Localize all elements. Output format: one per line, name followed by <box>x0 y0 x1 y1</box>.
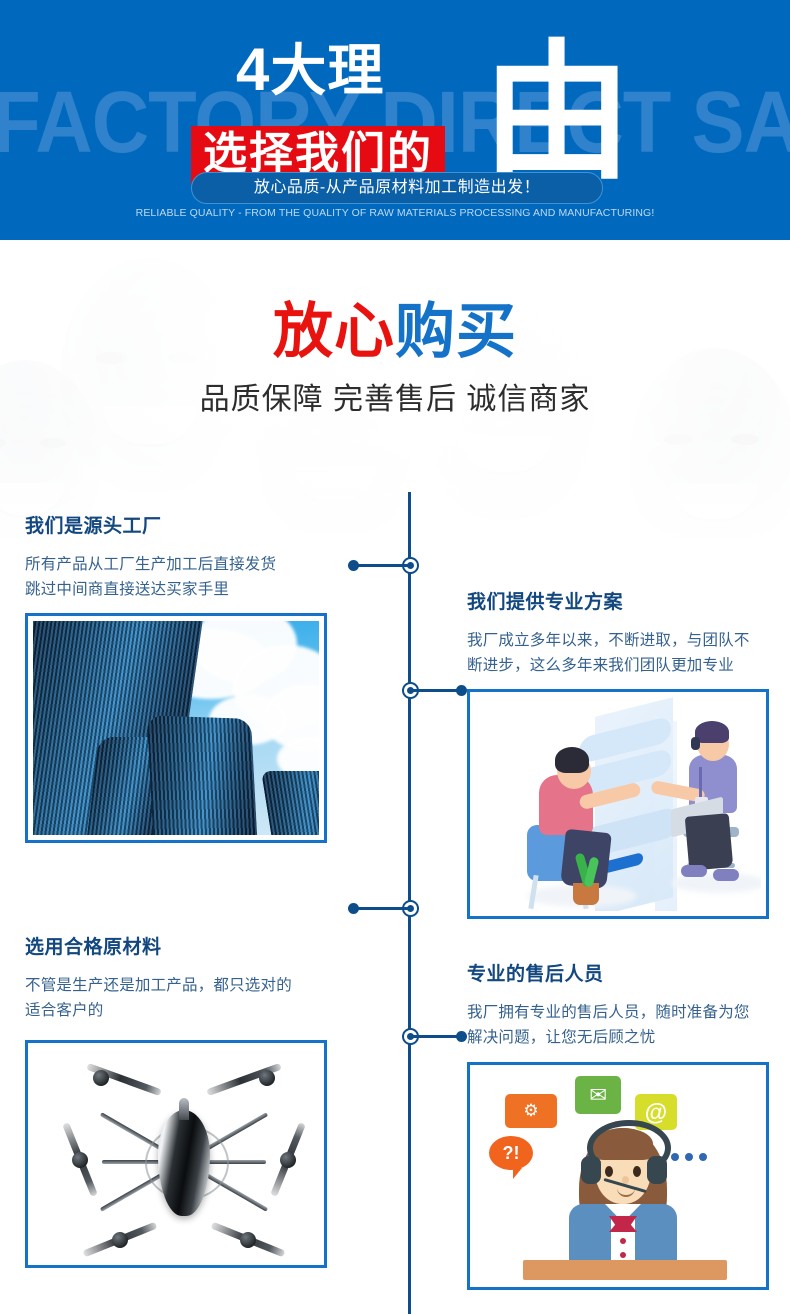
timeline-branch-1 <box>356 564 410 567</box>
timeline-branch-3 <box>356 907 410 910</box>
drone-rotor-3 <box>72 1152 88 1168</box>
drone-rotor-6 <box>240 1232 256 1248</box>
section-subtitle: 品质保障 完善售后 诚信商家 <box>0 380 790 420</box>
headset-earcup-right <box>647 1156 667 1184</box>
feature-4-description: 我厂拥有专业的售后人员，随时准备为您 解决问题，让您无后顾之忧 <box>467 1000 781 1050</box>
timeline-dot-1 <box>348 560 359 571</box>
question-bubble-icon: ?! <box>489 1136 533 1170</box>
drone-rotor-4 <box>280 1152 296 1168</box>
feature-2-image-business-meeting <box>467 689 769 919</box>
header-banner: FACTORY DIRECT SALE 4大理 由 选择我们的 放心品质-从产品… <box>0 0 790 240</box>
feature-3-description: 不管是生产还是加工产品，都只选对的 适合客户的 <box>25 973 345 1023</box>
mail-icon: ✉ <box>575 1076 621 1114</box>
timeline-dot-3 <box>348 903 359 914</box>
feature-3-line-2: 适合客户的 <box>25 998 345 1023</box>
feature-2-heading: 我们提供专业方案 <box>467 590 623 616</box>
feature-1-line-1: 所有产品从工厂生产加工后直接发货 <box>25 552 345 577</box>
timeline-dot-2 <box>456 685 467 696</box>
header-title-group: 4大理 由 选择我们的 <box>0 22 790 172</box>
header-headline-text: 大理 <box>270 39 384 102</box>
drone-rotor-5 <box>112 1232 128 1248</box>
feature-1-description: 所有产品从工厂生产加工后直接发货 跳过中间商直接送达买家手里 <box>25 552 345 602</box>
section-title-blue: 购买 <box>395 298 517 365</box>
gear-icon: ⚙ <box>505 1094 557 1128</box>
mail-icon-glyph: ✉ <box>589 1083 607 1108</box>
header-headline: 4大理 <box>236 42 384 99</box>
at-icon-glyph: @ <box>645 1099 667 1126</box>
drone-rotor-1 <box>93 1070 109 1086</box>
feature-3-heading: 选用合格原材料 <box>25 935 162 961</box>
header-quality-pill: 放心品质-从产品原材料加工制造出发！ <box>191 172 603 204</box>
header-headline-number: 4 <box>236 36 270 103</box>
header-english-subtitle: RELIABLE QUALITY - FROM THE QUALITY OF R… <box>0 206 790 220</box>
feature-2-description: 我厂成立多年以来，不断进取，与团队不 断进步，这么多年来我们团队更加专业 <box>467 628 779 678</box>
timeline-dot-4 <box>456 1031 467 1042</box>
typing-dots-icon <box>671 1148 713 1166</box>
gear-icon-glyph: ⚙ <box>523 1101 538 1121</box>
feature-2-line-1: 我厂成立多年以来，不断进取，与团队不 <box>467 628 779 653</box>
drone-rotor-2 <box>259 1070 275 1086</box>
section-title-red: 放心 <box>273 298 395 365</box>
promo-page: FACTORY DIRECT SALE 4大理 由 选择我们的 放心品质-从产品… <box>0 0 790 1314</box>
feature-1-heading: 我们是源头工厂 <box>25 514 162 540</box>
feature-4-line-1: 我厂拥有专业的售后人员，随时准备为您 <box>467 1000 781 1025</box>
drone-fuselage <box>158 1110 210 1216</box>
feature-3-line-1: 不管是生产还是加工产品，都只选对的 <box>25 973 345 998</box>
headset-earcup-left <box>581 1156 601 1184</box>
feature-4-heading: 专业的售后人员 <box>467 962 604 988</box>
question-bubble-glyph: ?! <box>503 1143 520 1164</box>
feature-3-image-drone <box>25 1040 327 1268</box>
feature-4-line-2: 解决问题，让您无后顾之忧 <box>467 1025 781 1050</box>
feature-4-image-customer-service: ⚙ ✉ @ ?! <box>467 1062 769 1290</box>
feature-1-line-2: 跳过中间商直接送达买家手里 <box>25 577 345 602</box>
header-big-character: 由 <box>482 38 632 188</box>
feature-1-image-skyscrapers <box>25 613 327 843</box>
section-title: 放心购买 <box>0 298 790 366</box>
feature-2-line-2: 断进步，这么多年来我们团队更加专业 <box>467 653 779 678</box>
agent-desk <box>523 1260 727 1280</box>
